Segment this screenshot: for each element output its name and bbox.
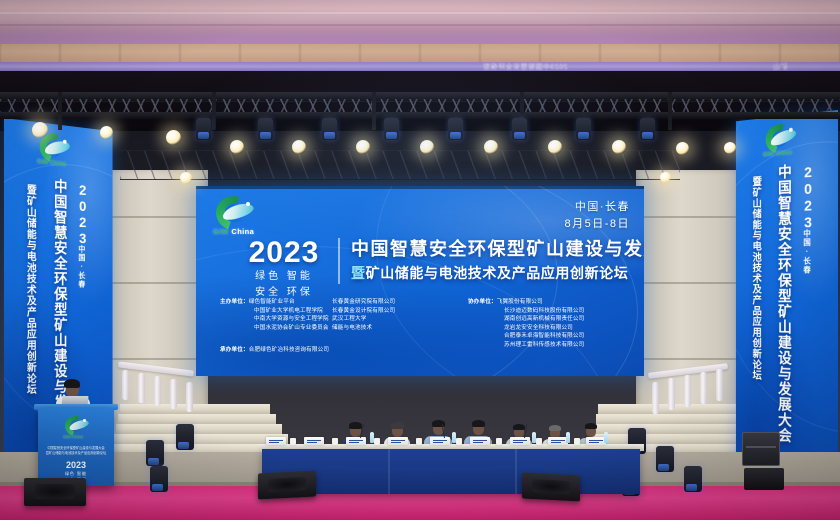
event-year-block: 2023 绿色 智能 安全 环保 [236, 238, 332, 300]
host-item-2: 中南大学资源与安全工程学院 [220, 315, 332, 324]
moving-head-light-7 [576, 118, 591, 140]
host-column-2: 长春黄金研究院有限公司 长春黄金设计院有限公司 武汉工程大学 储能与电池技术 [332, 298, 450, 350]
right-banner-subtitle: 暨矿山储能与电池技术及产品应用创新论坛 [751, 176, 764, 381]
event-dates: 8月5日-8日 [564, 216, 630, 233]
spotlight-13 [180, 172, 192, 184]
floor-light-2 [146, 440, 164, 466]
host-column-1: 主办单位：绿色智能矿业平台 中国矿业大学机电工程学院 中南大学资源与安全工程学院… [220, 298, 332, 350]
host2-item-2: 武汉工程大学 [332, 315, 450, 324]
left-banner-year: 2023 [75, 182, 90, 247]
organizer-label: 承办单位： [220, 347, 249, 353]
event-title-secondary: 暨矿山储能与电池技术及产品应用创新论坛 [351, 263, 632, 283]
spotlight-12 [724, 142, 736, 154]
truss-vertical-3 [372, 92, 376, 130]
right-banner-logo: GIM China [758, 121, 809, 164]
spotlight-14 [660, 172, 671, 183]
host-item-0: 绿色智能矿业平台 [249, 299, 295, 305]
teacup-7 [536, 438, 542, 445]
water-bottle-4 [566, 432, 570, 443]
teacup-6 [496, 438, 502, 445]
hall-ceiling [0, 0, 840, 46]
truss-vertical-1 [58, 92, 62, 130]
host2-item-3: 储能与电池技术 [332, 324, 450, 333]
moving-head-light-4 [384, 118, 399, 140]
event-title-block: 中国智慧安全环保型矿山建设与发展大会 暨矿山储能与电池技术及产品应用创新论坛 [351, 238, 632, 283]
event-slogan-line1: 绿色 智能 [236, 270, 332, 284]
moving-head-light-3 [322, 118, 337, 140]
co-item-0: 飞翼股份有限公司 [497, 299, 543, 305]
floor-speaker-left [24, 478, 86, 506]
moving-head-light-2 [258, 118, 273, 140]
right-banner-location: 中国·长春 [802, 229, 812, 274]
nameplate-6 [470, 437, 490, 445]
teacup-4 [416, 438, 422, 445]
moving-head-light-1 [196, 118, 211, 140]
nameplate-7 [510, 437, 530, 445]
floor-light-1 [176, 424, 194, 450]
spotlight-10 [612, 140, 626, 154]
left-banner-subtitle: 暨矿山储能与电池技术及产品应用创新论坛 [25, 184, 39, 396]
organizer-name: 合肥绿色矿冶科技咨询有限公司 [249, 347, 329, 353]
spotlight-2 [100, 126, 113, 139]
host2-item-1: 长春黄金设计院有限公司 [332, 307, 450, 316]
nameplate-1 [266, 437, 286, 445]
water-bottle-2 [452, 432, 456, 443]
floor-light-6 [684, 466, 702, 492]
gim-logo-text: GIMChina [213, 227, 254, 236]
water-bottle-1 [370, 432, 374, 443]
spotlight-7 [420, 140, 434, 154]
host-label: 主办单位： [220, 299, 249, 305]
left-banner-location: 中国·长春 [77, 245, 86, 289]
spotlight-4 [230, 140, 244, 154]
equipment-flight-case [742, 432, 780, 466]
water-bottle-3 [532, 432, 536, 443]
host2-item-0: 长春黄金研究院有限公司 [332, 298, 450, 307]
co-item-2: 湖南创远高新机械有限责任公司 [468, 315, 608, 324]
right-banner-title: 中国智慧安全环保型矿山建设与发展大会 [775, 164, 794, 444]
nameplate-8 [548, 437, 568, 445]
sponsor-block: 主办单位：绿色智能矿业平台 中国矿业大学机电工程学院 中南大学资源与安全工程学院… [220, 298, 634, 350]
truss-vertical-5 [668, 92, 672, 130]
co-item-3: 龙岩龙安安全科技有限公司 [468, 324, 608, 333]
spotlight-6 [356, 140, 370, 154]
nameplate-2 [304, 437, 324, 445]
speaker-stack-right [744, 468, 784, 490]
co-item-5: 苏州理工雷科传感技术有限公司 [468, 341, 608, 350]
event-year: 2023 [236, 238, 332, 268]
truss-vertical-2 [212, 92, 216, 130]
main-led-screen: GIMChina 中国·长春 8月5日-8日 2023 绿色 智能 安全 环保 … [196, 186, 644, 376]
spotlight-8 [484, 140, 498, 154]
teacup-5 [456, 438, 462, 445]
co-organizer-column: 协办单位：飞翼股份有限公司 长沙迪迈数码科技股份有限公司 湖南创远高新机械有限责… [468, 298, 608, 350]
floor-light-3 [150, 466, 168, 492]
right-vertical-banner: GIM China 2023 中国·长春 中国智慧安全环保型矿山建设与发展大会 … [736, 110, 838, 482]
teacup-3 [374, 438, 380, 445]
stage-monitor-left [258, 470, 316, 499]
spotlight-11 [676, 142, 689, 155]
host-item-3: 中国水泥协会矿山专业委员会 [220, 324, 332, 333]
event-location-dates: 中国·长春 8月5日-8日 [564, 199, 630, 233]
podium-year: 2023 [38, 460, 114, 470]
right-banner-logo-text: GIM China [763, 149, 792, 158]
conference-stage-photo: 2023中国智慧安全环保型 矿山 [0, 0, 840, 520]
moving-head-light-5 [448, 118, 463, 140]
title-divider [338, 238, 340, 284]
nameplate-4 [388, 437, 408, 445]
host-item-1: 中国矿业大学机电工程学院 [220, 307, 332, 316]
podium-logo: GIM China [60, 416, 94, 442]
upper-wall-band [0, 44, 840, 63]
lighting-truss-lower-chord [0, 112, 840, 119]
podium-line-1: 中国智慧安全环保型矿山建设与发展大会 [38, 446, 114, 451]
spotlight-1 [32, 122, 48, 138]
organizer-row: 承办单位：合肥绿色矿冶科技咨询有限公司 [220, 346, 329, 355]
teacup-1 [290, 438, 296, 445]
event-title-secondary-text: 矿山储能与电池技术及产品应用创新论坛 [366, 265, 629, 281]
nameplate-3 [346, 437, 366, 445]
lighting-truss-secondary [120, 150, 680, 180]
nameplate-9 [586, 437, 606, 445]
floor-light-5 [656, 446, 674, 472]
co-organizer-label: 协办单位： [468, 299, 497, 305]
teacup-2 [332, 438, 338, 445]
ceiling-molding-line-2 [0, 24, 840, 26]
stage-monitor-right [522, 472, 580, 501]
right-banner-year: 2023 [800, 164, 816, 232]
spotlight-3 [166, 130, 181, 145]
teacup-8 [574, 438, 580, 445]
amp-prefix: 暨 [351, 265, 366, 281]
podium: GIM China 中国智慧安全环保型矿山建设与发展大会 暨矿山储能与电池技术及… [38, 408, 114, 486]
head-table-skirt [262, 449, 640, 494]
co-item-1: 长沙迪迈数码科技股份有限公司 [468, 307, 608, 316]
gim-china-logo: GIMChina [210, 196, 270, 240]
co-item-4: 合肥泰禾卓海智能科技有限公司 [468, 332, 608, 341]
nameplate-5 [430, 437, 450, 445]
ceiling-molding-line [0, 12, 840, 14]
podium-logo-text: GIM China [63, 434, 83, 439]
water-bottle-5 [604, 432, 608, 443]
event-title-primary: 中国智慧安全环保型矿山建设与发展大会 [351, 238, 632, 261]
podium-line-2: 暨矿山储能与电池技术及产品应用创新论坛 [38, 451, 114, 456]
left-banner-logo-text: GIM China [37, 158, 66, 168]
moving-head-light-8 [640, 118, 655, 140]
event-location: 中国·长春 [564, 199, 630, 216]
moving-head-light-6 [512, 118, 527, 140]
spotlight-9 [548, 140, 562, 154]
spotlight-5 [292, 140, 306, 154]
